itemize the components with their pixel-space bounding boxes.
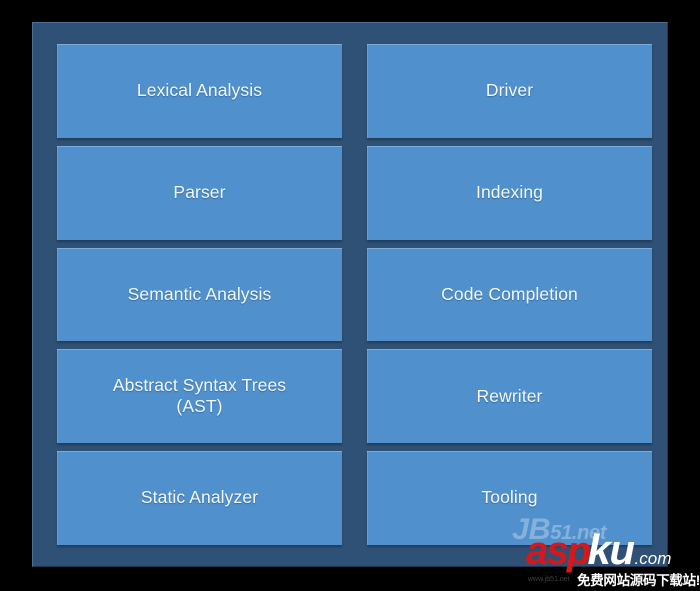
diagram-panel: Lexical Analysis Driver Parser Indexing … <box>32 22 668 567</box>
block-label: Lexical Analysis <box>137 80 262 102</box>
block-grid: Lexical Analysis Driver Parser Indexing … <box>57 44 652 545</box>
block-label: Static Analyzer <box>141 487 258 509</box>
block-label: Indexing <box>476 182 543 204</box>
watermark-chinese-tagline: 免费网站源码下载站! <box>577 569 700 589</box>
block-label: Semantic Analysis <box>128 284 272 306</box>
block-abstract-syntax-trees[interactable]: Abstract Syntax Trees (AST) <box>57 349 342 443</box>
watermark-faint-url: www.jb51.net <box>528 576 570 583</box>
block-indexing[interactable]: Indexing <box>367 146 652 240</box>
block-rewriter[interactable]: Rewriter <box>367 349 652 443</box>
block-lexical-analysis[interactable]: Lexical Analysis <box>57 44 342 138</box>
block-driver[interactable]: Driver <box>367 44 652 138</box>
block-semantic-analysis[interactable]: Semantic Analysis <box>57 248 342 342</box>
block-label: Rewriter <box>477 386 543 408</box>
block-label: Code Completion <box>441 284 578 306</box>
slide-canvas: Lexical Analysis Driver Parser Indexing … <box>0 0 700 591</box>
block-label: Abstract Syntax Trees (AST) <box>113 375 286 418</box>
block-label: Parser <box>173 182 225 204</box>
block-label: Driver <box>486 80 533 102</box>
block-parser[interactable]: Parser <box>57 146 342 240</box>
block-tooling[interactable]: Tooling <box>367 451 652 545</box>
block-label: Tooling <box>481 487 537 509</box>
block-static-analyzer[interactable]: Static Analyzer <box>57 451 342 545</box>
block-code-completion[interactable]: Code Completion <box>367 248 652 342</box>
